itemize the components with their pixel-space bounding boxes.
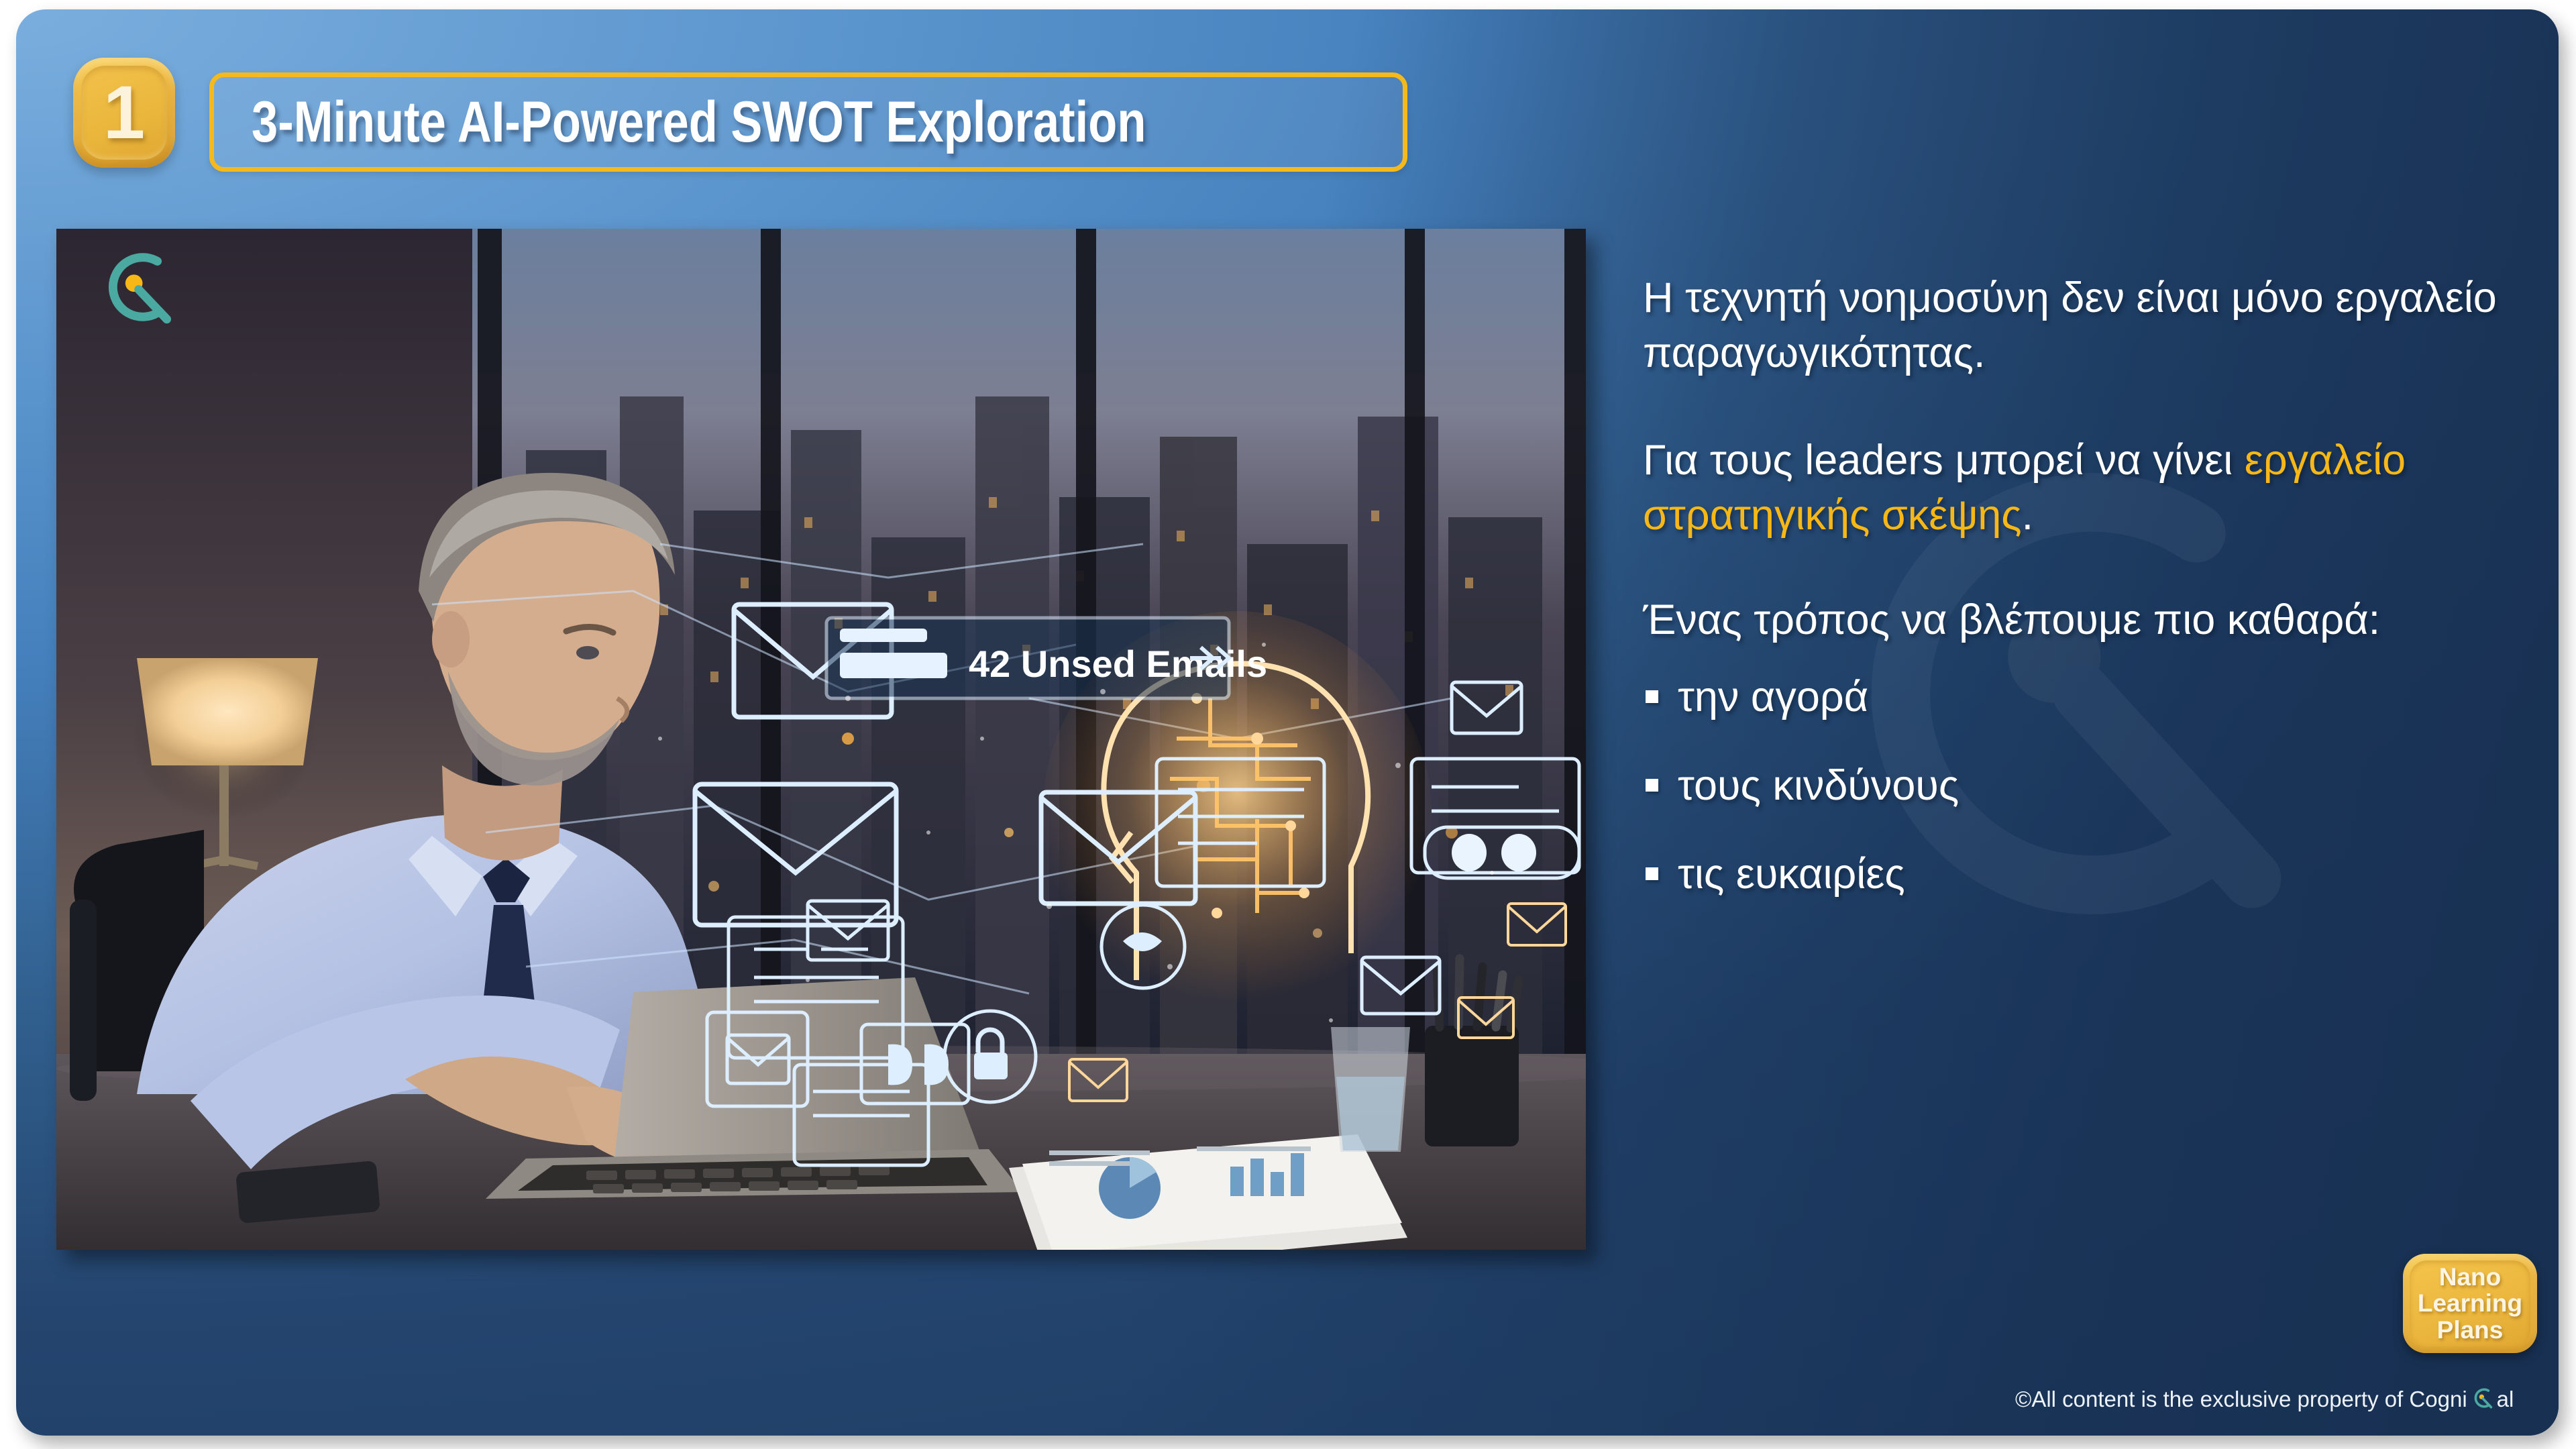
copyright-notice: ©All content is the exclusive property o… [2015,1380,2514,1412]
body-copy: Η τεχνητή νοημοσύνη δεν είναι μόνο εργαλ… [1643,271,2535,936]
paragraph-1: Η τεχνητή νοημοσύνη δεν είναι μόνο εργαλ… [1643,271,2535,381]
list-item-label: τις ευκαιρίες [1678,851,1905,898]
list-item-label: την αγορά [1678,674,1868,720]
step-number-badge: 1 [73,58,175,168]
slide-title-box: 3-Minute AI-Powered SWOT Exploration [209,72,1407,172]
step-number-digit: 1 [103,75,145,150]
slide-canvas: 1 3-Minute AI-Powered SWOT Exploration [16,9,2559,1436]
list-item: την αγορά [1643,670,2535,725]
page-title: 3-Minute AI-Powered SWOT Exploration [252,93,1146,151]
nano-learning-plans-badge: Nano Learning Plans [2403,1254,2537,1353]
list-item-label: τους κινδύνους [1678,762,1959,809]
list-item: τους κινδύνους [1643,759,2535,814]
copyright-text: ©All content is the exclusive property o… [2015,1387,2467,1412]
paragraph-3: Ένας τρόπος να βλέπουμε πιο καθαρά: [1643,593,2535,648]
paragraph-2: Για τους leaders μπορεί να γίνει εργαλεί… [1643,433,2535,543]
bullet-square-icon [1646,867,1658,880]
cogniqal-logo-icon [89,244,182,331]
hero-photo-illustration: 42 Unsed Emails [56,229,1586,1250]
bullet-square-icon [1646,690,1658,703]
nano-badge-line-2: Learning [2418,1290,2522,1317]
copyright-suffix: al [2497,1387,2514,1412]
paragraph-2-prefix: Για τους leaders μπορεί να γίνει [1643,437,2245,484]
bullet-list: την αγορά τους κινδύνους τις ευκαιρίες [1643,670,2535,902]
slide-header: 1 3-Minute AI-Powered SWOT Exploration [16,9,2559,211]
list-item: τις ευκαιρίες [1643,847,2535,902]
nano-badge-line-3: Plans [2437,1317,2504,1344]
hero-photo: 42 Unsed Emails [56,229,1586,1250]
bullet-square-icon [1646,779,1658,792]
cogniqal-mark-icon [2469,1385,2495,1411]
nano-badge-line-1: Nano [2439,1264,2502,1291]
paragraph-2-suffix: . [2022,492,2034,539]
